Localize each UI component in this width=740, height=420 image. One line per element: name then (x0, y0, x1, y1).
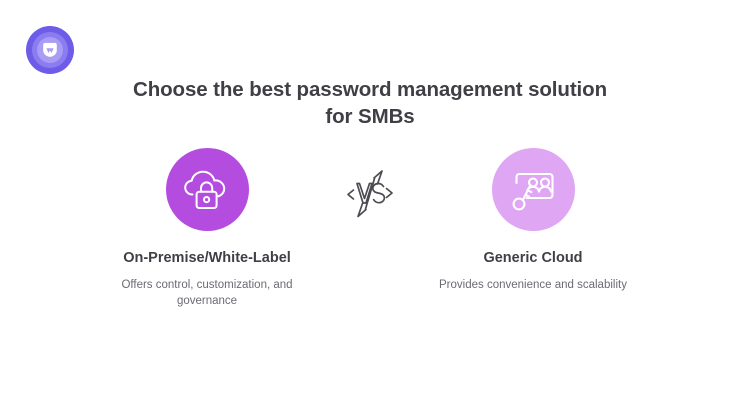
brand-logo-mid-ring (32, 32, 68, 68)
option-icon-circle-on-premise (166, 148, 249, 231)
shield-wallet-logo-icon (41, 42, 59, 58)
brand-logo[interactable] (26, 26, 74, 74)
option-card-on-premise[interactable]: On-Premise/White-Label Offers control, c… (82, 148, 332, 310)
option-description-generic-cloud: Provides convenience and scalability (439, 277, 627, 293)
key-users-screen-icon (508, 166, 558, 214)
brand-logo-inner-ring (37, 37, 63, 63)
option-card-generic-cloud[interactable]: Generic Cloud Provides convenience and s… (408, 148, 658, 293)
cloud-lock-icon (182, 167, 232, 213)
page-title: Choose the best password management solu… (120, 76, 620, 130)
vs-badge (332, 148, 408, 222)
vs-burst-icon (341, 166, 399, 222)
option-label-on-premise: On-Premise/White-Label (123, 249, 291, 268)
option-description-on-premise: Offers control, customization, and gover… (107, 277, 307, 310)
comparison-row: On-Premise/White-Label Offers control, c… (0, 148, 740, 310)
option-icon-circle-generic-cloud (492, 148, 575, 231)
option-label-generic-cloud: Generic Cloud (483, 249, 582, 268)
